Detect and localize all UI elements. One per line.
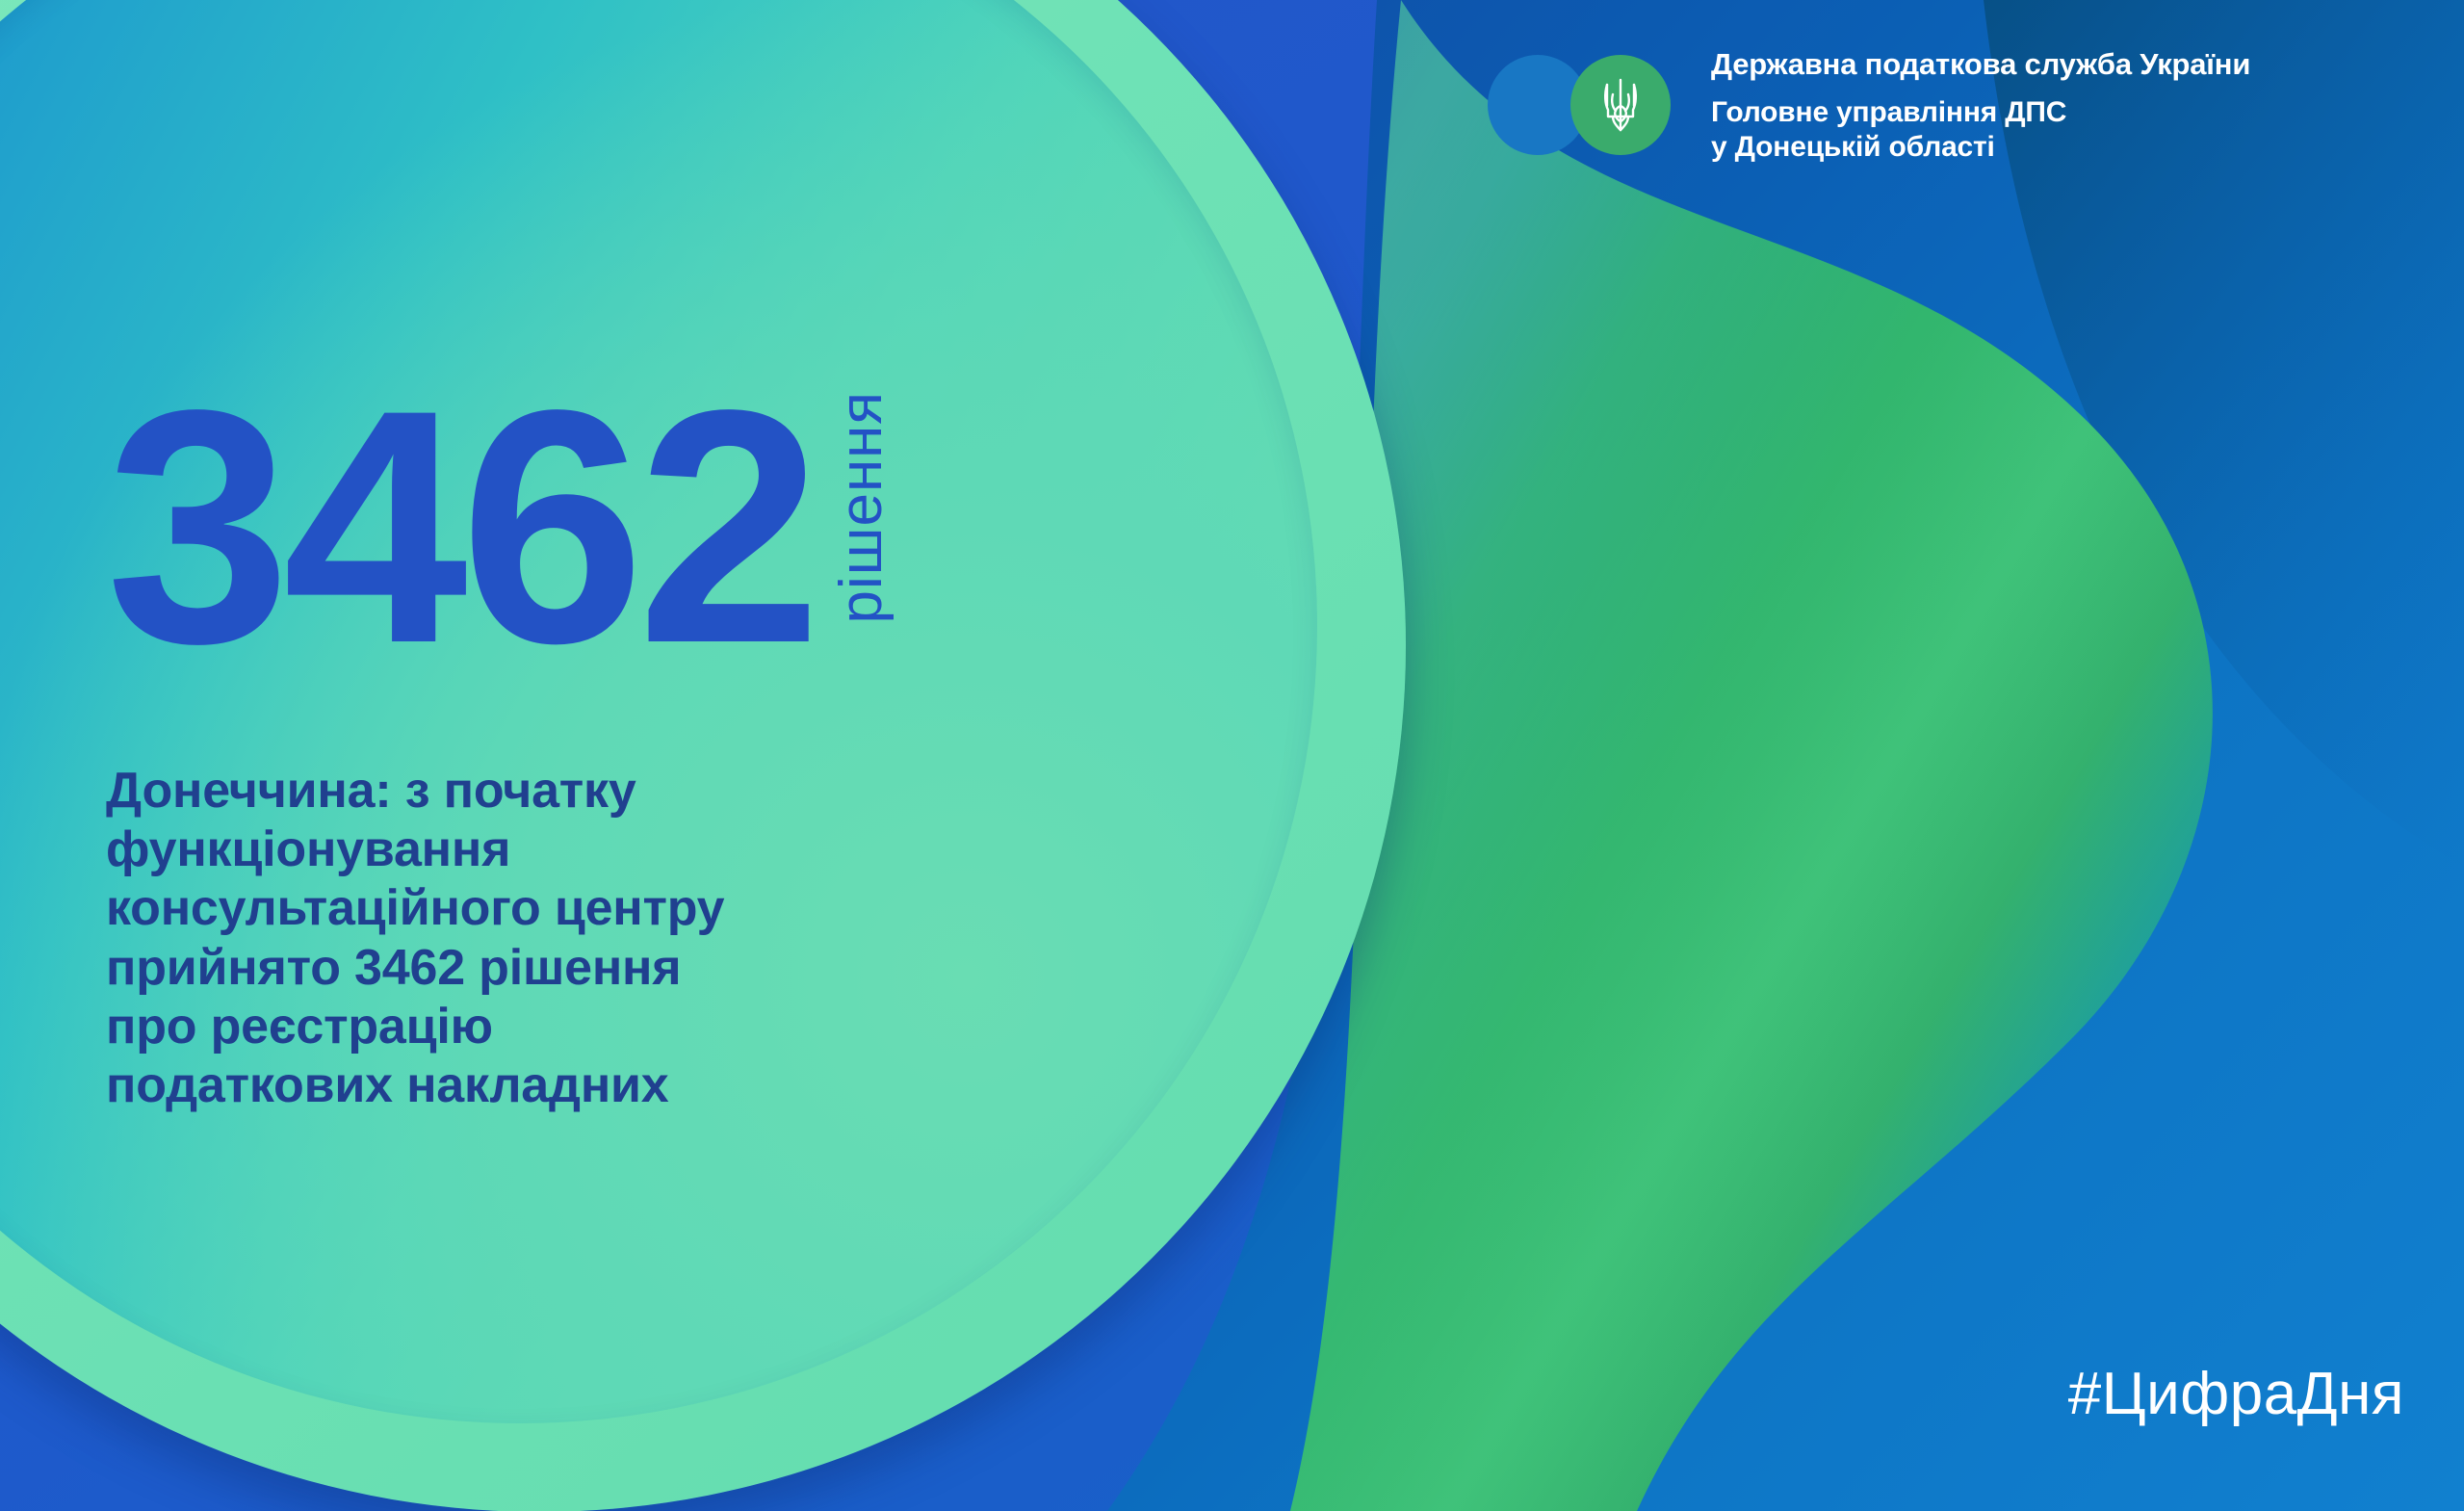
ukraine-trident-icon [1599, 77, 1642, 133]
brand-text: Державна податкова служба України Головн… [1711, 46, 2250, 165]
green-circle-badge [1570, 55, 1671, 155]
message-line: прийнято 3462 рішення [106, 939, 741, 998]
brand-marks [1488, 47, 1707, 163]
department-name: Головне управління ДПС у Донецькій облас… [1711, 95, 2250, 165]
message-line: податкових накладних [106, 1056, 741, 1115]
poster-canvas: 3462 рішення Донеччина: з початку функці… [0, 0, 2464, 1511]
highlight-unit-label: рішення [832, 391, 892, 624]
highlight-number: 3462 [106, 385, 815, 671]
highlight-number-row: 3462 рішення [106, 385, 1165, 671]
message-text: Донеччина: з початку функціонування конс… [106, 762, 741, 1116]
hashtag-label: #ЦифраДня [2068, 1360, 2404, 1428]
message-line: Донеччина: з початку [106, 762, 741, 821]
brand-lockup: Державна податкова служба України Головн… [1488, 46, 2250, 165]
message-line: функціонування [106, 821, 741, 879]
organization-name: Державна податкова служба України [1711, 46, 2250, 84]
message-line: консультаційного центру [106, 879, 741, 938]
highlight-content: 3462 рішення Донеччина: з початку функці… [106, 385, 1165, 1116]
message-line: про реєстрацію [106, 998, 741, 1056]
department-line-2: у Донецькій області [1711, 130, 2250, 165]
department-line-1: Головне управління ДПС [1711, 95, 2250, 130]
